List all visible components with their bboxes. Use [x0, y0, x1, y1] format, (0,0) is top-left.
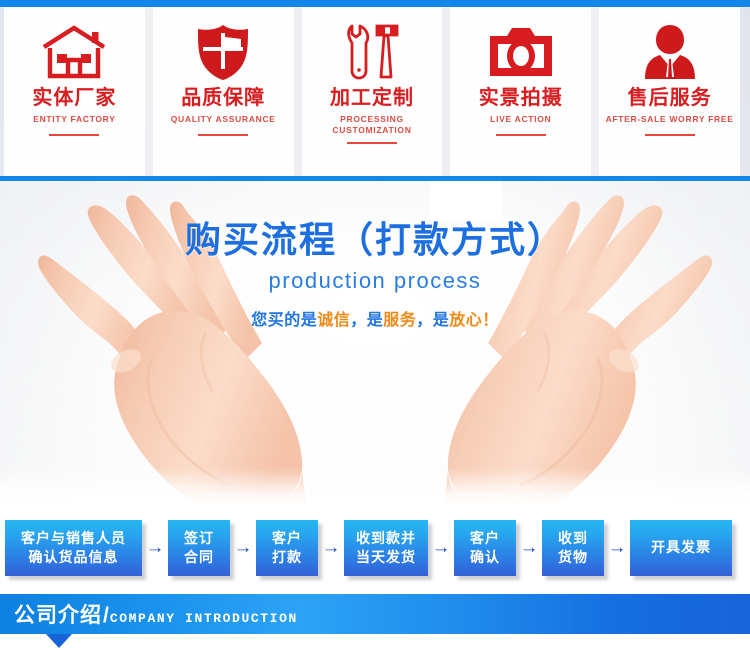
feature-title-en: LIVE ACTION: [490, 114, 551, 125]
process-step-7[interactable]: 开具发票: [630, 520, 732, 576]
person-suit-icon: [643, 23, 697, 81]
process-step-line: 收到: [558, 529, 588, 548]
process-step-line: 客户: [272, 529, 302, 548]
section-title-en: COMPANY INTRODUCTION: [110, 611, 298, 626]
process-step-3[interactable]: 客户 打款: [256, 520, 318, 576]
feature-title-en-line1: PROCESSING: [340, 114, 404, 124]
feature-title-zh: 售后服务: [628, 87, 712, 109]
feature-title-zh: 实景拍摄: [479, 87, 563, 109]
feature-card-entity-factory[interactable]: 实体厂家 ENTITY FACTORY: [4, 7, 145, 176]
feature-title-zh: 实体厂家: [32, 87, 116, 109]
process-step-5[interactable]: 客户 确认: [454, 520, 516, 576]
flow-arrow-icon: →: [516, 538, 542, 557]
flow-arrow-icon: →: [428, 538, 454, 557]
flow-arrow-icon: →: [230, 538, 256, 557]
process-step-line: 确认货品信息: [29, 548, 119, 567]
house-icon: [41, 23, 107, 81]
feature-title-en: AFTER-SALE WORRY FREE: [606, 114, 734, 125]
feature-underline: [49, 134, 99, 136]
camera-icon: [488, 23, 554, 81]
feature-card-quality-assurance[interactable]: 品质保障 QUALITY ASSURANCE: [153, 7, 294, 176]
feature-underline: [496, 134, 546, 136]
flow-arrow-icon: →: [318, 538, 344, 557]
process-step-1[interactable]: 客户与销售人员 确认货品信息: [5, 520, 142, 576]
section-header-inner: 公司介绍 / COMPANY INTRODUCTION: [0, 599, 298, 629]
feature-card-after-sale[interactable]: 售后服务 AFTER-SALE WORRY FREE: [599, 7, 740, 176]
process-step-line: 货物: [558, 548, 588, 567]
open-hands-image: [0, 181, 750, 505]
feature-title-en: QUALITY ASSURANCE: [171, 114, 276, 125]
feature-title-en: PROCESSING CUSTOMIZATION: [332, 114, 411, 137]
feature-card-processing-customization[interactable]: 加工定制 PROCESSING CUSTOMIZATION: [302, 7, 443, 176]
flow-arrow-icon: →: [604, 538, 630, 557]
feature-underline: [645, 134, 695, 136]
feature-underline: [198, 134, 248, 136]
process-step-4[interactable]: 收到款并 当天发货: [344, 520, 428, 576]
process-step-line: 开具发票: [651, 538, 711, 557]
section-header-notch-icon: [46, 634, 72, 648]
feature-title-en-line2: CUSTOMIZATION: [332, 125, 411, 135]
feature-card-live-action[interactable]: 实景拍摄 LIVE ACTION: [450, 7, 591, 176]
feature-underline: [347, 142, 397, 144]
top-blue-rule: [0, 0, 750, 7]
process-flow: 客户与销售人员 确认货品信息 → 签订 合同 → 客户 打款 → 收到款并 当天…: [0, 505, 750, 590]
process-step-2[interactable]: 签订 合同: [168, 520, 230, 576]
process-step-line: 合同: [184, 548, 214, 567]
process-step-line: 当天发货: [356, 548, 416, 567]
flow-arrow-icon: →: [142, 538, 168, 557]
process-step-6[interactable]: 收到 货物: [542, 520, 604, 576]
feature-title-en: ENTITY FACTORY: [33, 114, 115, 125]
section-header-company-introduction[interactable]: 公司介绍 / COMPANY INTRODUCTION: [0, 594, 750, 634]
feature-title-zh: 品质保障: [181, 87, 265, 109]
footer-whitespace: [0, 634, 750, 650]
feature-strip: 实体厂家 ENTITY FACTORY 品质保障 QUALITY ASSURAN…: [0, 7, 750, 176]
tools-icon: [341, 23, 403, 81]
shield-icon: [195, 23, 251, 81]
process-step-line: 收到款并: [356, 529, 416, 548]
page-root: 实体厂家 ENTITY FACTORY 品质保障 QUALITY ASSURAN…: [0, 0, 750, 650]
section-title-zh: 公司介绍: [14, 599, 102, 629]
process-step-line: 客户与销售人员: [21, 529, 126, 548]
hero-banner: 购买流程（打款方式） production process 您买的是诚信，是服务…: [0, 181, 750, 505]
process-step-line: 打款: [272, 548, 302, 567]
process-step-line: 确认: [470, 548, 500, 567]
process-step-line: 签订: [184, 529, 214, 548]
feature-title-zh: 加工定制: [330, 87, 414, 109]
section-title-separator: /: [103, 604, 109, 628]
process-step-line: 客户: [470, 529, 500, 548]
